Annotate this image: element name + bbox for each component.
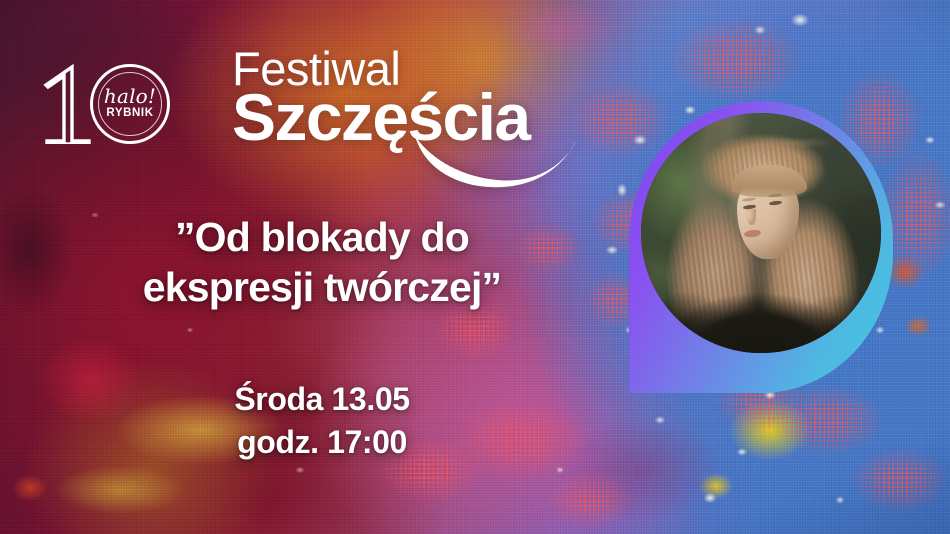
numeral-one-icon (42, 64, 96, 144)
event-headline-line-2: ekspresji twórczej” (62, 262, 582, 312)
event-datetime: Środa 13.05 godz. 17:00 (62, 378, 582, 464)
event-headline: ”Od blokady do ekspresji twórczej” (62, 212, 582, 312)
event-time: godz. 17:00 (62, 421, 582, 464)
speaker-portrait-photo (641, 113, 881, 353)
smile-swoosh-icon (413, 132, 581, 194)
event-headline-line-1: ”Od blokady do (62, 212, 582, 262)
logo-halo-wordmark: halo! (98, 86, 162, 106)
portrait-color-grade (641, 113, 881, 353)
speaker-photo-bubble (629, 101, 893, 393)
festival-poster: halo! RYBNIK Festiwal Szczęścia ”Od blok… (0, 0, 950, 534)
halo-rybnik-10-logo: halo! RYBNIK (38, 58, 218, 148)
event-date: Środa 13.05 (62, 378, 582, 421)
logo-city-wordmark: RYBNIK (98, 108, 162, 120)
